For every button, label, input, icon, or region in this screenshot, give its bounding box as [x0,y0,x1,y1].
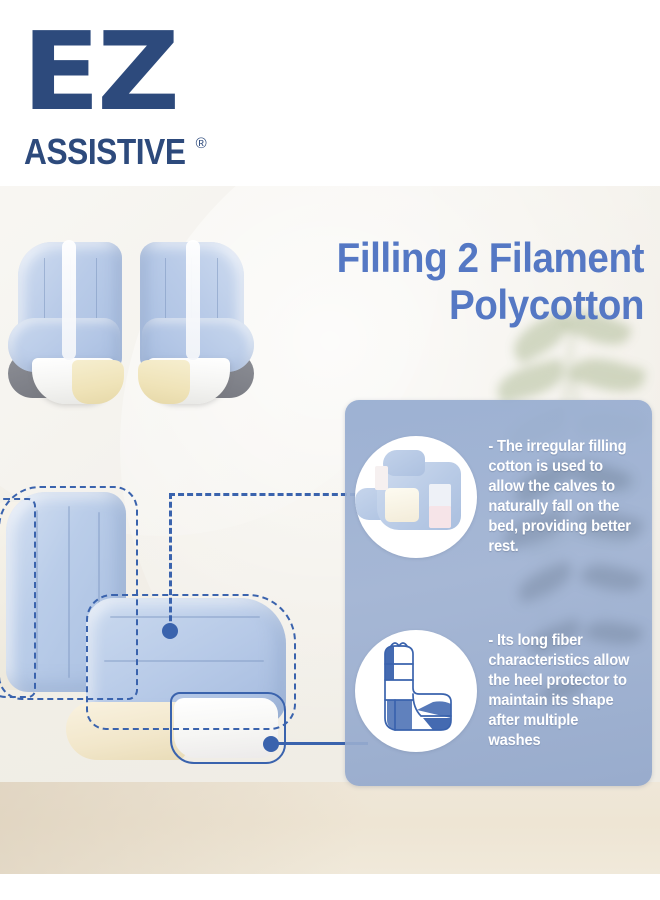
logo-assistive-text: ASSISTIVE [24,134,186,170]
callout-2-text: - Its long fiber characteristics allow t… [477,631,643,752]
logo-ez-text: EZ [22,22,245,124]
heel-protector-right [128,232,252,422]
c1-label-tag-b [429,484,451,508]
heel-protector-lineart-icon [355,630,477,752]
callout-panel: - The irregular filling cotton is used t… [345,400,652,786]
circle-1-content [355,436,477,558]
c1-label-tag-c [429,506,451,528]
connector-1-dot [162,623,178,639]
title-line-1: Filling 2 Filament [272,234,644,281]
c1-label-tag-a [375,466,388,490]
callout-1-text: - The irregular filling cotton is used t… [477,437,643,558]
page-title: Filling 2 Filament Polycotton [272,234,644,328]
connector-2-dot [263,736,279,752]
callout-item-1: - The irregular filling cotton is used t… [345,402,652,592]
product-photo-pair [8,228,256,428]
boot-center-strap [186,240,200,360]
connector-1-horizontal [169,493,365,496]
hero-scene: Filling 2 Filament Polycotton [0,186,660,900]
c1-boot-cuff [383,450,425,476]
boot-center-strap [62,240,76,360]
logo-subtitle-row: ASSISTIVE ® [24,134,207,170]
boot-foam-insert [72,360,124,404]
footer-spacer [0,880,660,900]
c1-filling-cotton [385,488,419,522]
callout-item-2: - Its long fiber characteristics allow t… [345,596,652,786]
circle-2-lineart [355,630,477,752]
boot-foam-insert [138,360,190,404]
connector-1-vertical [169,493,172,630]
infographic-page: EZ ASSISTIVE ® [0,0,660,900]
brand-logo: EZ ASSISTIVE ® [22,22,232,172]
filling-cotton-photo-icon [355,436,477,558]
heel-protector-left [10,232,134,422]
registered-trademark-icon: ® [196,135,207,152]
product-foam-pad [66,702,186,760]
outline-trace-white-pad [170,692,286,764]
brand-header: EZ ASSISTIVE ® [0,0,660,187]
title-line-2: Polycotton [272,281,644,328]
background-floor-shadow [0,782,660,874]
